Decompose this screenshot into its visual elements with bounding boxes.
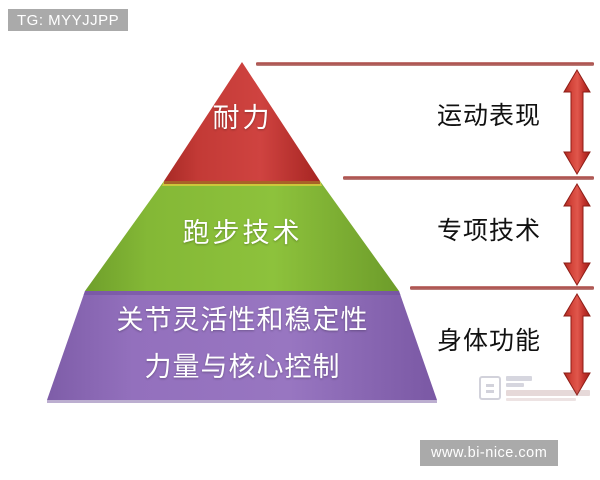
divider-line-middle xyxy=(343,176,594,180)
tier-label-running-technique: 跑步技术 xyxy=(0,218,485,249)
arrow-performance xyxy=(564,70,590,174)
faint-source-watermark xyxy=(478,372,596,404)
arrow-specific-technique xyxy=(564,184,590,285)
tier-label-endurance: 耐力 xyxy=(0,103,485,134)
diagram-canvas: 耐力 跑步技术 关节灵活性和稳定性 力量与核心控制 运动表现 专项技术 身体功能… xyxy=(0,0,600,480)
arrow-body-function xyxy=(564,294,590,395)
tier-label-strength-core-control: 力量与核心控制 xyxy=(0,352,485,383)
tg-watermark-badge: TG: MYYJJPP xyxy=(8,9,128,31)
divider-line-top xyxy=(256,62,594,66)
site-url-badge: www.bi-nice.com xyxy=(420,440,558,466)
side-label-body-function: 身体功能 xyxy=(437,329,541,354)
divider-line-bottom xyxy=(410,286,594,290)
side-label-specific-technique: 专项技术 xyxy=(437,219,541,244)
side-label-athletic-performance: 运动表现 xyxy=(437,104,541,129)
tier-label-joint-mobility-stability: 关节灵活性和稳定性 xyxy=(0,305,485,336)
